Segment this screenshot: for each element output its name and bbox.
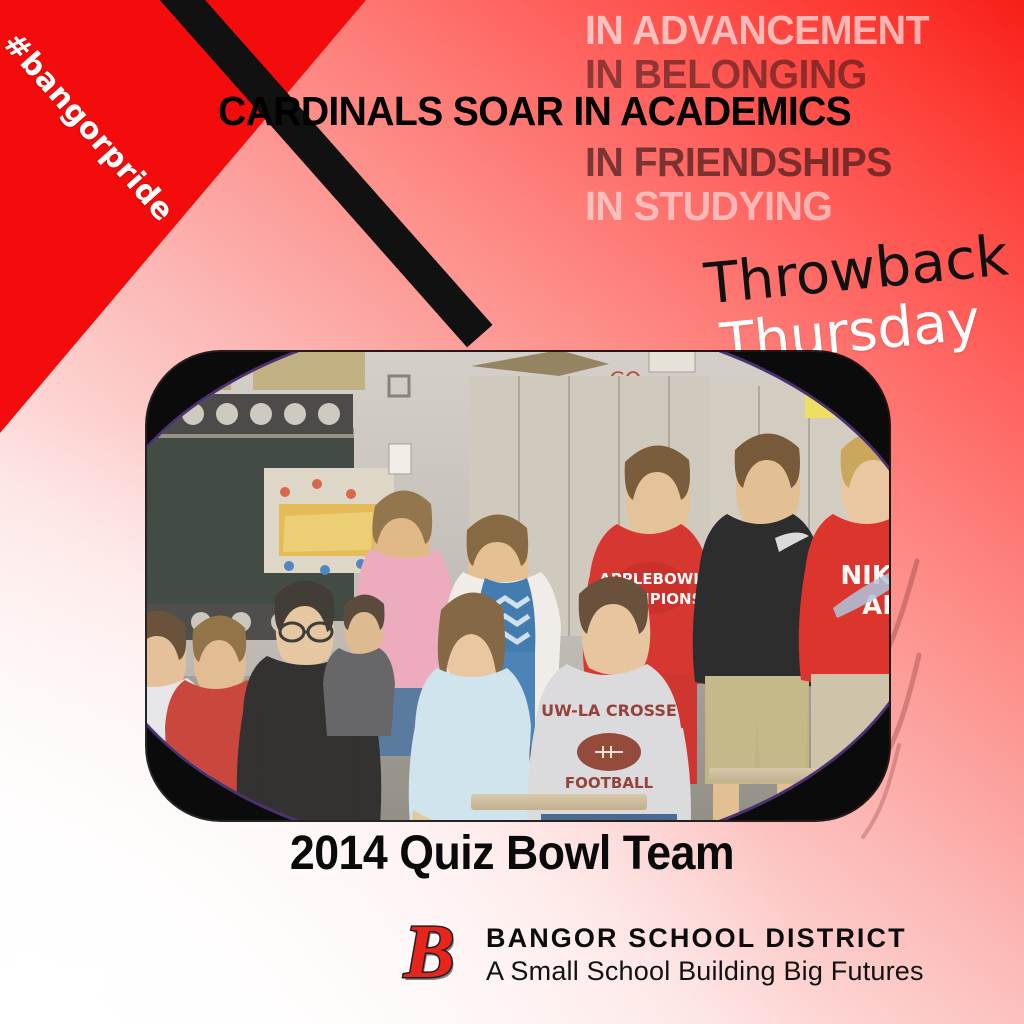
- social-media-poster: #bangorpride IN ADVANCEMENT IN BELONGING…: [0, 0, 1024, 1024]
- district-tagline: A Small School Building Big Futures: [486, 956, 924, 987]
- footer-logo-lockup: B BANGOR SCHOOL DISTRICT A Small School …: [404, 918, 924, 992]
- slogan-line-studying: IN STUDYING: [585, 184, 1007, 228]
- district-name: BANGOR SCHOOL DISTRICT: [486, 923, 924, 954]
- headline: CARDINALS SOAR IN ACADEMICS: [218, 89, 851, 133]
- bangor-b-logo-icon: B: [404, 918, 468, 992]
- photo-frame: CO: [147, 352, 889, 820]
- photo-caption: 2014 Quiz Bowl Team: [36, 826, 988, 881]
- logo-letter: B: [404, 914, 455, 990]
- slogan-line-friendships: IN FRIENDSHIPS: [585, 140, 1007, 184]
- photo-lens-mask: CO: [147, 352, 889, 820]
- footer-text-block: BANGOR SCHOOL DISTRICT A Small School Bu…: [486, 923, 924, 987]
- team-photo: CO: [147, 352, 889, 820]
- slogan-line-advancement: IN ADVANCEMENT: [585, 8, 1007, 52]
